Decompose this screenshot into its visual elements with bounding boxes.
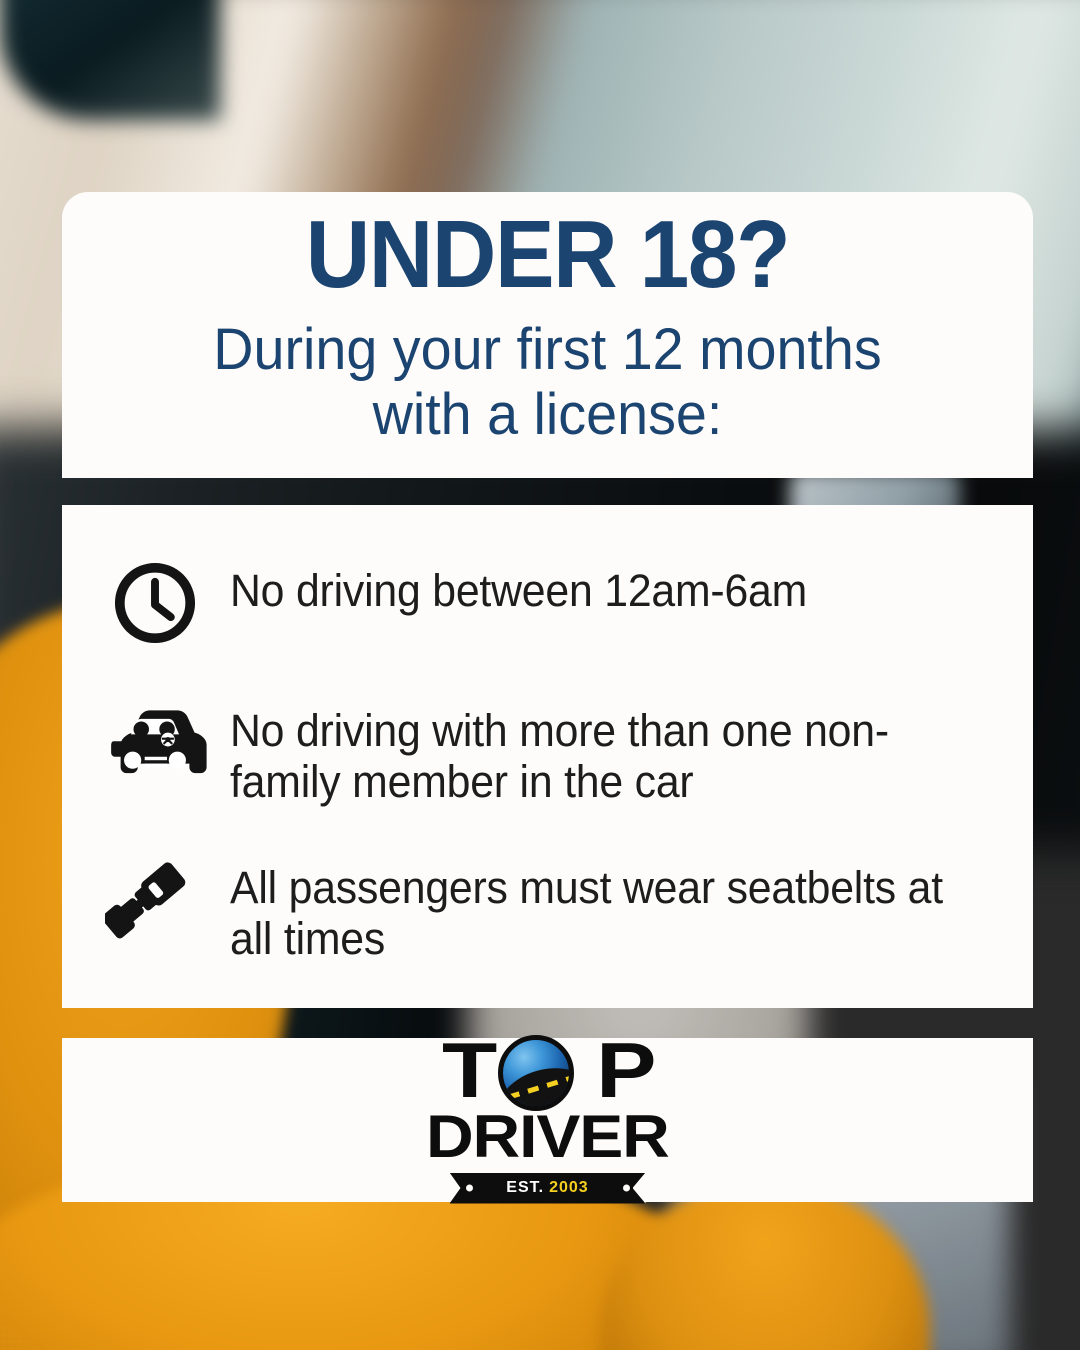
ribbon-notch-right (633, 1173, 646, 1204)
rules-card: No driving between 12am-6am (62, 505, 1033, 1008)
ribbon-year-label: 2003 (549, 1179, 589, 1197)
rule-text: No driving with more than one non-family… (230, 695, 961, 808)
rule-item: No driving with more than one non-family… (100, 695, 999, 808)
globe-road-icon (498, 1035, 574, 1111)
logo-letter-p: P (596, 1037, 653, 1103)
logo-letter-t: T (442, 1037, 494, 1103)
logo-wordmark-top: T P (440, 1037, 655, 1107)
top-driver-logo: T P DRIVER EST. 2003 (423, 1037, 673, 1204)
poster-graphic: UNDER 18? During your first 12 months wi… (0, 0, 1080, 1350)
ribbon-est-label: EST. (506, 1179, 544, 1197)
subtitle-line-2: with a license: (106, 383, 988, 448)
rule-item: All passengers must wear seatbelts at al… (100, 852, 999, 965)
clock-icon (100, 555, 210, 651)
rule-item: No driving between 12am-6am (100, 555, 999, 651)
established-ribbon: EST. 2003 (450, 1173, 646, 1204)
rule-text: All passengers must wear seatbelts at al… (230, 852, 961, 965)
seatbelt-buckle-icon (100, 852, 210, 948)
car-with-passengers-icon (100, 695, 210, 791)
logo-card: T P DRIVER EST. 2003 (62, 1038, 1033, 1202)
rule-text: No driving between 12am-6am (230, 555, 807, 616)
header-card: UNDER 18? During your first 12 months wi… (62, 192, 1033, 478)
subtitle-line-1: During your first 12 months (106, 318, 988, 383)
logo-wordmark-driver: DRIVER (426, 1109, 669, 1165)
page-title: UNDER 18? (120, 206, 975, 304)
